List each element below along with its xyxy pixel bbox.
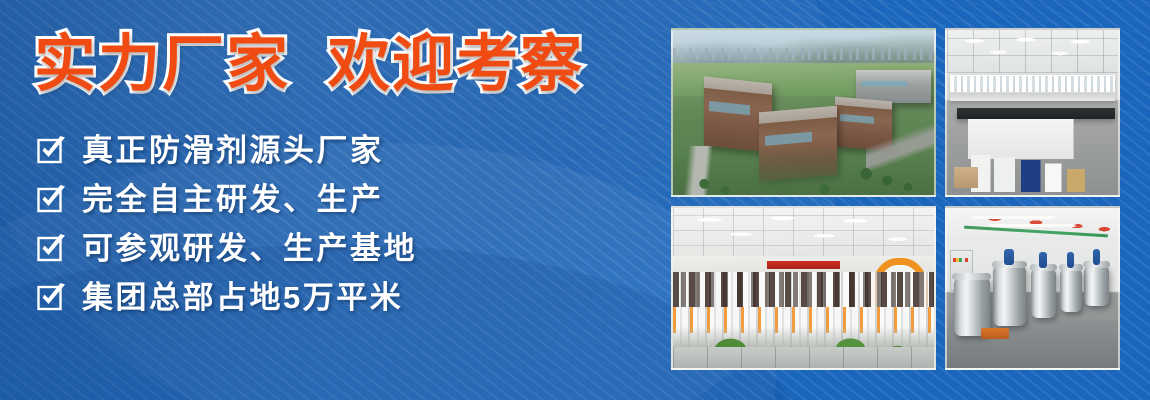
checkbox-check-icon: [36, 282, 66, 312]
photo-grid: [671, 28, 1120, 370]
chemical-containers: [961, 149, 1111, 192]
orange-pallet-cart: [981, 328, 1008, 339]
list-item-label: 可参观研发、生产基地: [82, 233, 417, 264]
list-item-label: 完全自主研发、生产: [82, 184, 384, 215]
text-pane: 实力厂家 欢迎考察 真正防滑剂源头厂家: [0, 0, 660, 400]
checkbox-check-icon: [36, 184, 66, 214]
promo-banner: 实力厂家 欢迎考察 真正防滑剂源头厂家: [0, 0, 1150, 400]
checkbox-check-icon: [36, 233, 66, 263]
tank-motor: [1039, 252, 1047, 268]
office-desks: [673, 347, 934, 368]
mixing-tank: [1084, 266, 1110, 306]
mixing-tank: [1031, 269, 1057, 319]
red-banner: [767, 261, 840, 269]
employee-heads: [673, 272, 934, 307]
office-building: [856, 70, 932, 103]
mixing-tank: [1060, 269, 1082, 312]
headline: 实力厂家 欢迎考察: [28, 34, 660, 96]
list-item: 真正防滑剂源头厂家: [28, 130, 660, 170]
city-skyline: [673, 48, 934, 60]
feature-list: 真正防滑剂源头厂家 完全自主研发、生产 可参: [28, 130, 660, 317]
reagent-shelf: [950, 75, 1114, 101]
tank-motor: [1093, 249, 1101, 265]
ceiling-lights: [673, 214, 934, 256]
trees: [673, 139, 934, 195]
list-item-label: 真正防滑剂源头厂家: [82, 135, 384, 166]
staff-group-photo: [671, 206, 936, 370]
mixing-tank: [993, 266, 1025, 327]
headline-part-1: 实力厂家: [34, 34, 290, 96]
tank-motor: [1004, 249, 1014, 265]
checkbox-check-icon: [36, 135, 66, 165]
ceiling-lights: [947, 35, 1118, 68]
production-tanks-photo: [945, 206, 1120, 370]
tank-motor: [1067, 252, 1074, 268]
laboratory-photo: [945, 28, 1120, 197]
list-item: 可参观研发、生产基地: [28, 228, 660, 268]
headline-part-2: 欢迎考察: [328, 34, 584, 96]
list-item-label: 集团总部占地5万平米: [82, 282, 403, 313]
lab-bench-top: [957, 108, 1114, 120]
list-item: 完全自主研发、生产: [28, 179, 660, 219]
cardboard-box: [954, 167, 978, 188]
list-item: 集团总部占地5万平米: [28, 277, 660, 317]
aerial-campus-photo: [671, 28, 936, 197]
